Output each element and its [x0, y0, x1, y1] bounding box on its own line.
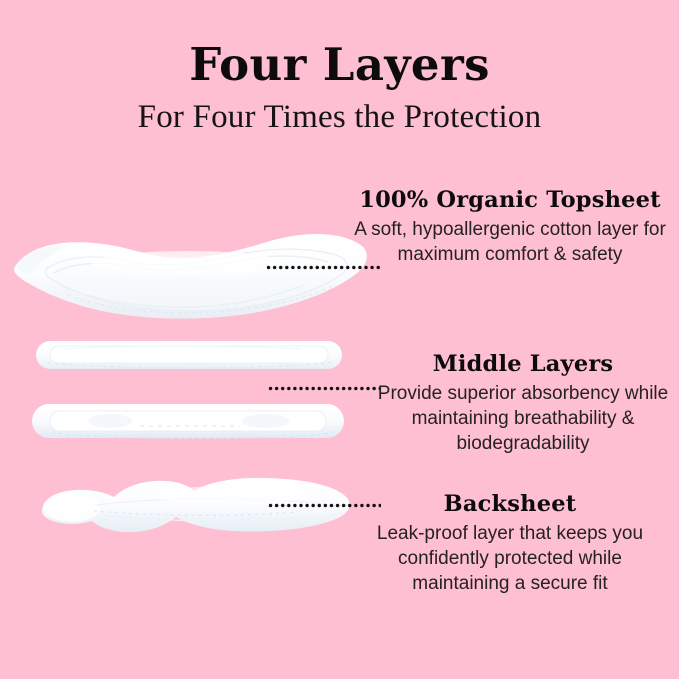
page-subtitle: For Four Times the Protection	[0, 90, 679, 135]
body-topsheet: A soft, hypoallergenic cotton layer for …	[354, 217, 666, 268]
connector-dots-middle	[268, 386, 380, 391]
body-backsheet: Leak-proof layer that keeps you confiden…	[352, 521, 668, 597]
text-block-middle: Middle Layers Provide superior absorbenc…	[374, 352, 672, 457]
header: Four Layers For Four Times the Protectio…	[0, 0, 679, 135]
heading-topsheet: 100% Organic Topsheet	[354, 188, 666, 214]
pad-topsheet-image	[8, 219, 372, 329]
pad-middle-layer-upper-image	[34, 337, 344, 373]
text-block-backsheet: Backsheet Leak-proof layer that keeps yo…	[352, 492, 668, 597]
pad-middle-layer-lower-image	[30, 400, 346, 444]
heading-backsheet: Backsheet	[352, 492, 668, 518]
body-middle: Provide superior absorbency while mainta…	[374, 381, 672, 457]
page-title: Four Layers	[0, 0, 679, 90]
heading-middle: Middle Layers	[374, 352, 672, 378]
infographic-canvas: Four Layers For Four Times the Protectio…	[0, 0, 679, 679]
text-block-topsheet: 100% Organic Topsheet A soft, hypoallerg…	[354, 188, 666, 267]
